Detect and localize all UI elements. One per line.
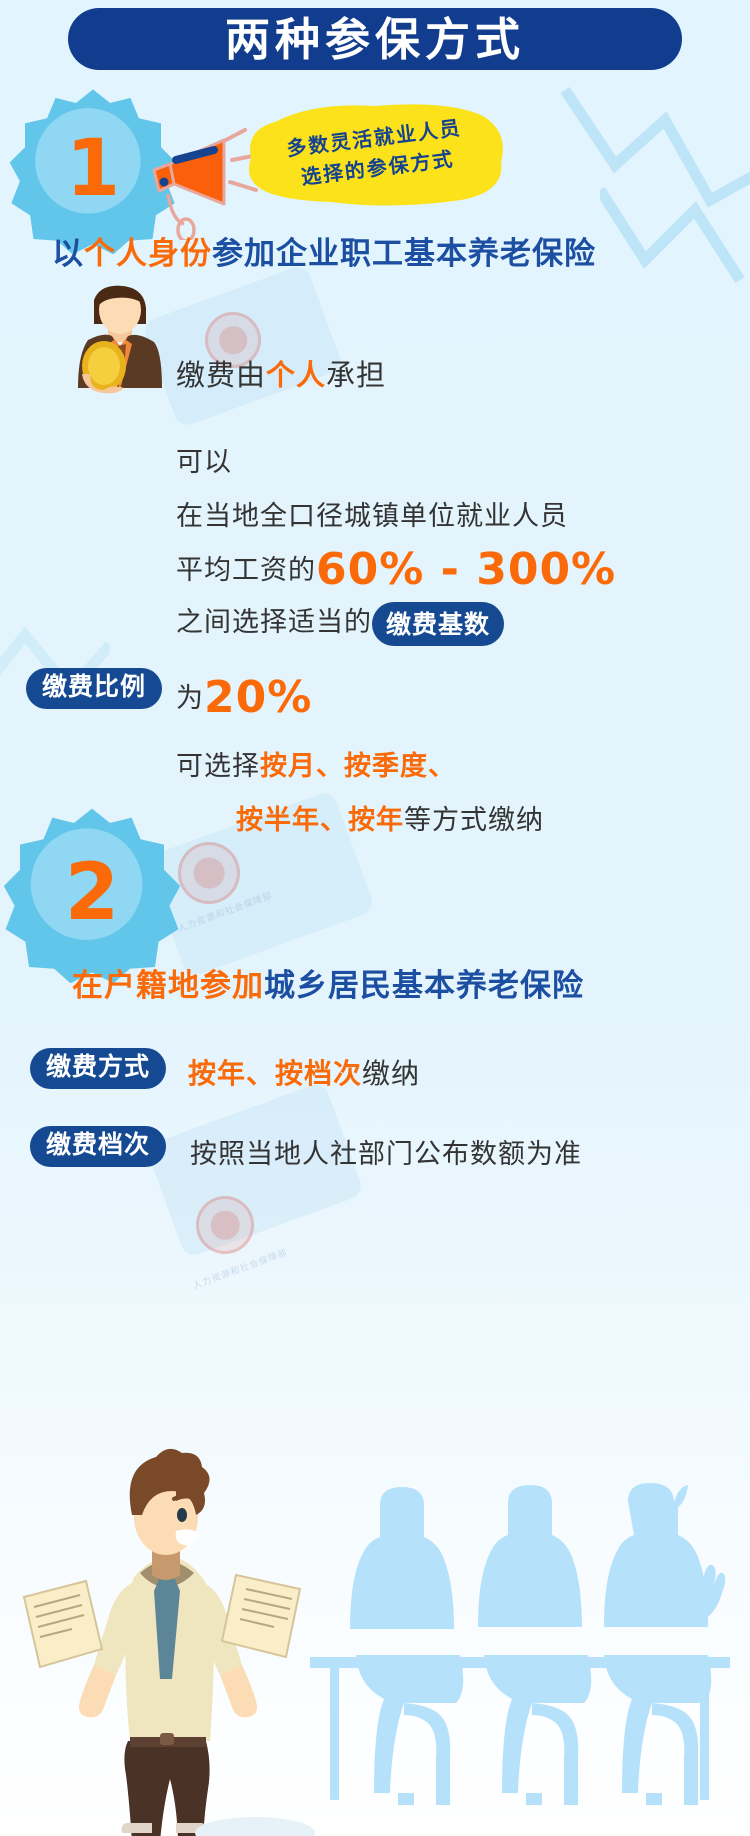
section-1-frequency-line-2-highlight: 按半年、按年	[236, 805, 404, 835]
section-1-headline: 以个人身份参加企业职工基本养老保险	[52, 228, 596, 273]
watermark-text-2: 人力资源和社会保障部	[176, 888, 274, 934]
page-title-pill: 两种参保方式	[68, 8, 682, 70]
infographic-poster: 人力资源和社会保障部 人力资源和社会保障部 两种参保方式 1	[0, 0, 750, 1836]
section-1-headline-pre: 以	[52, 236, 84, 271]
section-2-item-0-highlight: 按年、按档次	[188, 1058, 362, 1089]
section-2-item-1-text: 按照当地人社部门公布数额为准	[190, 1132, 582, 1171]
section-1-headline-highlight: 个人身份	[84, 236, 212, 271]
section-2-item-0-post: 缴纳	[362, 1058, 420, 1089]
presenter-figure	[24, 1449, 300, 1836]
section-1-rate-value: 20%	[204, 672, 312, 723]
section-1-basis-line-4: 之间选择适当的缴费基数	[176, 600, 504, 646]
section-1-row-0-highlight: 个人	[266, 360, 326, 392]
section-2-headline-post: 城乡居民基本养老保险	[264, 968, 584, 1003]
section-1-frequency-line-2-post: 等方式缴纳	[404, 805, 544, 835]
payment-rate-tag: 缴费比例	[26, 668, 162, 709]
presenter-shadow	[195, 1817, 315, 1836]
speech-bubble: 多数灵活就业人员 选择的参保方式	[243, 100, 509, 208]
section-1-rate-row: 为20%	[176, 672, 312, 723]
section-1-basis-line-2: 在当地全口径城镇单位就业人员	[176, 494, 568, 533]
payment-tier-tag: 缴费档次	[30, 1126, 166, 1167]
section-1-basis-line-3-pre: 平均工资的	[176, 555, 316, 585]
watermark-emblem-2	[178, 842, 240, 904]
bottom-illustration	[0, 1395, 750, 1836]
section-1-frequency-line-1-highlight: 按月、按季度、	[260, 751, 456, 781]
step-number-2: 2	[2, 805, 182, 985]
watermark-text-3: 人力资源和社会保障部	[191, 1245, 289, 1291]
watermark-emblem-3	[196, 1196, 254, 1254]
section-2-item-1-post: 按照当地人社部门公布数额为准	[190, 1139, 582, 1169]
payment-method-tag: 缴费方式	[30, 1048, 166, 1089]
zigzag-line-right-2	[600, 175, 750, 325]
audience-silhouettes	[350, 1483, 725, 1805]
section-1-frequency-line-1: 可选择按月、按季度、	[176, 744, 456, 783]
section-1-frequency-line-2: 按半年、按年等方式缴纳	[236, 798, 544, 837]
section-1-basis-line-4-pre: 之间选择适当的	[176, 607, 372, 637]
section-1-basis-line-3: 平均工资的60% - 300%	[176, 544, 616, 595]
section-1-row-0-post: 承担	[326, 360, 386, 392]
section-2-headline-highlight: 在户籍地参加	[72, 968, 264, 1003]
step-badge-2: 2	[2, 805, 182, 985]
payment-base-tag: 缴费基数	[372, 602, 504, 646]
section-2-headline: 在户籍地参加城乡居民基本养老保险	[72, 960, 584, 1005]
section-1-rate-mid: 为	[176, 683, 204, 713]
section-1-row-0-pre: 缴费由	[176, 360, 266, 392]
section-1-basis-range: 60% - 300%	[316, 544, 616, 595]
section-1-row-0: 缴费由个人承担	[176, 352, 386, 394]
businessman-coin-icon	[60, 278, 178, 396]
section-1-basis-line-1: 可以	[176, 440, 232, 479]
section-1-frequency-line-1-pre: 可选择	[176, 751, 260, 781]
section-2-item-0-text: 按年、按档次缴纳	[188, 1052, 420, 1092]
section-1-headline-post: 参加企业职工基本养老保险	[212, 236, 596, 271]
page-title: 两种参保方式	[225, 17, 525, 62]
